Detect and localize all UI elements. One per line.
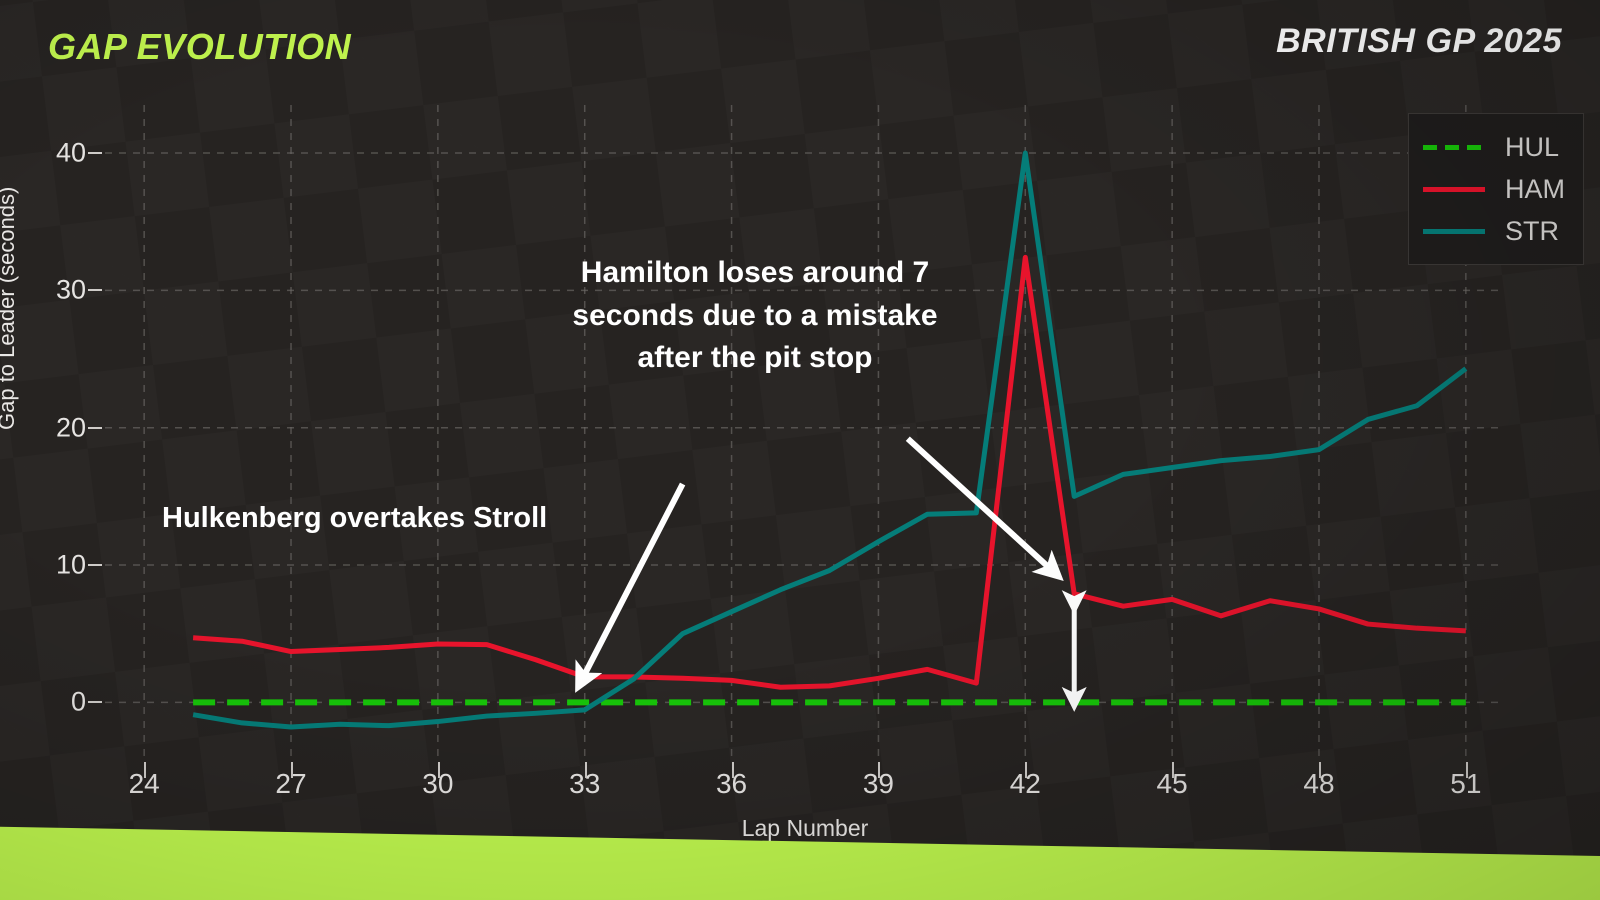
y-tick-label: 30: [56, 275, 86, 306]
y-axis-label: Gap to Leader (seconds): [0, 187, 20, 430]
x-tick-mark: [1319, 762, 1321, 778]
y-tick-mark: [88, 289, 102, 291]
y-gridlines: [105, 153, 1505, 702]
annotation-hulkenberg-overtake: Hulkenberg overtakes Stroll: [162, 498, 547, 539]
legend[interactable]: HULHAMSTR: [1408, 113, 1584, 265]
x-tick-mark: [585, 762, 587, 778]
legend-label: HAM: [1505, 176, 1565, 203]
y-tick-label: 10: [56, 550, 86, 581]
x-tick-mark: [438, 762, 440, 778]
legend-item-ham[interactable]: HAM: [1423, 168, 1565, 210]
y-tick-mark: [88, 152, 102, 154]
series-line-str: [193, 153, 1466, 727]
x-tick-mark: [291, 762, 293, 778]
x-tick-mark: [1466, 762, 1468, 778]
x-tick-mark: [144, 762, 146, 778]
legend-swatch-str-icon: [1423, 223, 1485, 239]
chart-canvas: [105, 105, 1505, 760]
y-tick-label: 0: [71, 687, 86, 718]
x-tick-mark: [1025, 762, 1027, 778]
legend-item-hul[interactable]: HUL: [1423, 126, 1565, 168]
y-tick-mark: [88, 427, 102, 429]
chart-page: GAP EVOLUTION BRITISH GP 2025 010203040 …: [0, 0, 1600, 900]
annotation-arrow-hamilton-mistake: [908, 439, 1052, 571]
legend-swatch-ham-icon: [1423, 181, 1485, 197]
x-tick-mark: [732, 762, 734, 778]
plot-area: [105, 105, 1505, 760]
page-title: GAP EVOLUTION: [48, 26, 351, 68]
legend-swatch-hul-icon: [1423, 139, 1485, 155]
data-series-layer: [193, 153, 1466, 727]
event-title: BRITISH GP 2025: [1276, 22, 1562, 61]
x-tick-mark: [1172, 762, 1174, 778]
y-tick-label: 20: [56, 412, 86, 443]
y-tick-mark: [88, 701, 102, 703]
x-gridlines: [144, 105, 1466, 760]
legend-item-str[interactable]: STR: [1423, 210, 1565, 252]
y-tick-mark: [88, 564, 102, 566]
x-axis-label: Lap Number: [742, 815, 869, 842]
legend-label: HUL: [1505, 134, 1559, 161]
y-tick-label: 40: [56, 138, 86, 169]
legend-label: STR: [1505, 218, 1559, 245]
annotation-hamilton-mistake: Hamilton loses around 7 seconds due to a…: [520, 252, 990, 380]
x-tick-mark: [878, 762, 880, 778]
